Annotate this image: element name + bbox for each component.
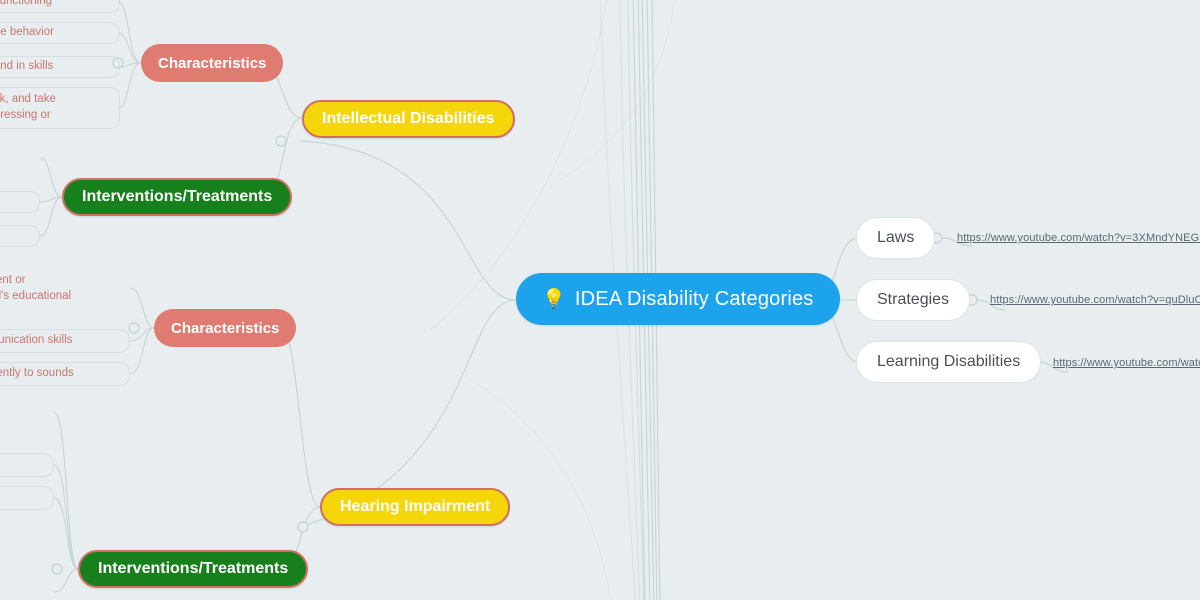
category-node-label: Hearing Impairment — [340, 498, 490, 516]
leaf-node[interactable]: Therapy — [0, 453, 54, 477]
mindmap-canvas[interactable]: 💡 IDEA Disability Categories Laws https:… — [0, 0, 1200, 600]
leaf-node[interactable]: peak, walk, and take such as dressing or — [0, 87, 120, 129]
leaf-node[interactable]: ,IEP — [0, 191, 40, 213]
subtopic-node-characteristics-hearing[interactable]: Characteristics — [154, 309, 296, 347]
category-node-hearing-impairment[interactable]: Hearing Impairment — [320, 488, 510, 526]
subtopic-node-characteristics-intellectual[interactable]: Characteristics — [141, 44, 283, 82]
leaf-node[interactable]: heraphy — [0, 486, 54, 510]
link-laws-video[interactable]: https://www.youtube.com/watch?v=3XMndYNE… — [957, 232, 1200, 244]
leaf-node[interactable]: ctioning and in skills — [0, 56, 120, 78]
topic-node-laws[interactable]: Laws — [856, 217, 935, 259]
leaf-node[interactable]: in adaptive behavior — [0, 22, 120, 44]
root-node[interactable]: 💡 IDEA Disability Categories — [516, 273, 840, 325]
subtopic-node-interventions-intellectual[interactable]: Interventions/Treatments — [62, 178, 292, 216]
leaf-node[interactable]: es and ypically — [0, 393, 54, 433]
topic-node-label: Learning Disabilities — [877, 353, 1020, 371]
link-learning-disabilities-video[interactable]: https://www.youtube.com/watc — [1053, 357, 1200, 369]
category-node-label: Intellectual Disabilities — [322, 110, 495, 128]
leaf-node[interactable]: ng communication skills — [0, 329, 130, 353]
link-strategies-video[interactable]: https://www.youtube.com/watch?v=quDluOq — [990, 294, 1200, 306]
subtopic-node-interventions-hearing[interactable]: Interventions/Treatments — [78, 550, 308, 588]
leaf-node[interactable]: heraphy — [0, 580, 54, 600]
leaf-node[interactable]: d consistently to sounds — [0, 362, 130, 386]
subtopic-node-label: Characteristics — [171, 320, 279, 337]
leaf-node[interactable]: tion — [0, 225, 40, 247]
subtopic-node-label: Interventions/Treatments — [98, 560, 288, 578]
leaf-node[interactable]: s or, — [0, 148, 40, 170]
leaf-node[interactable]: ellectual functioning — [0, 0, 120, 13]
lightbulb-icon: 💡 — [542, 290, 566, 309]
subtopic-node-label: Characteristics — [158, 55, 266, 72]
topic-node-learning-disabilities[interactable]: Learning Disabilities — [856, 341, 1041, 383]
topic-node-label: Laws — [877, 229, 914, 247]
category-node-intellectual-disabilities[interactable]: Intellectual Disabilities — [302, 100, 515, 138]
subtopic-node-label: Interventions/Treatments — [82, 188, 272, 206]
topic-node-label: Strategies — [877, 291, 949, 309]
leaf-node[interactable]: r permanent or cts a child's educational — [0, 268, 130, 310]
topic-node-strategies[interactable]: Strategies — [856, 279, 970, 321]
root-node-label: IDEA Disability Categories — [575, 288, 814, 311]
